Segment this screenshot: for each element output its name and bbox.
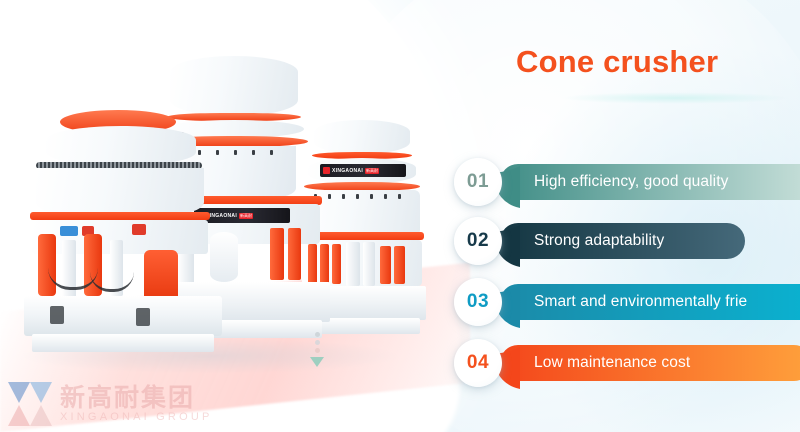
- nameplate-brand-text: XINGAONAI: [332, 168, 363, 174]
- crusher-machine-left: XINGAONAI 新高耐: [24, 110, 224, 358]
- feature-badge-01[interactable]: 01: [454, 158, 502, 206]
- feature-bar-04[interactable]: Low maintenance cost: [500, 345, 800, 381]
- feature-label-02: Strong adaptability: [500, 232, 664, 250]
- scroll-down-arrow-icon: [308, 332, 326, 380]
- scroll-dot: [315, 332, 320, 337]
- feature-item-03[interactable]: Smart and environmentally frie 03: [452, 270, 800, 332]
- scroll-triangle: [310, 357, 324, 367]
- feature-item-04[interactable]: Low maintenance cost 04: [452, 331, 800, 393]
- feature-bar-01[interactable]: High efficiency, good quality: [500, 164, 800, 200]
- feature-badge-03[interactable]: 03: [454, 278, 502, 326]
- feature-number-02: 02: [467, 230, 489, 252]
- cone-crusher-illustration: XINGAONAI 新高耐: [10, 40, 440, 360]
- headline-glow: [560, 92, 790, 104]
- logo-chinese-name: 新高耐集团: [60, 386, 213, 411]
- feature-item-02[interactable]: Strong adaptability 02: [452, 209, 800, 271]
- feature-badge-04[interactable]: 04: [454, 339, 502, 387]
- feature-list: High efficiency, good quality 01 Strong …: [452, 150, 800, 400]
- feature-label-03: Smart and environmentally frie: [500, 293, 747, 311]
- feature-badge-02[interactable]: 02: [454, 217, 502, 265]
- scroll-dot: [315, 340, 320, 345]
- poster-canvas: XINGAONAI 新高耐: [0, 0, 800, 432]
- feature-label-01: High efficiency, good quality: [500, 173, 728, 191]
- feature-label-04: Low maintenance cost: [500, 354, 690, 372]
- feature-number-03: 03: [467, 291, 489, 313]
- feature-number-04: 04: [467, 352, 489, 374]
- page-title: Cone crusher: [516, 44, 718, 80]
- feature-bar-02[interactable]: Strong adaptability: [500, 223, 745, 259]
- feature-item-01[interactable]: High efficiency, good quality 01: [452, 150, 800, 212]
- scroll-dot: [315, 348, 320, 353]
- logo-english-name: XINGAONAI GROUP: [60, 412, 213, 423]
- feature-bar-03[interactable]: Smart and environmentally frie: [500, 284, 800, 320]
- x-mark-logo-icon: [8, 382, 52, 426]
- company-logo-watermark: 新高耐集团 XINGAONAI GROUP: [8, 382, 213, 426]
- nameplate-brand-cn: 新高耐: [365, 168, 379, 174]
- feature-number-01: 01: [467, 171, 489, 193]
- nameplate-brand-cn: 新高耐: [239, 213, 253, 219]
